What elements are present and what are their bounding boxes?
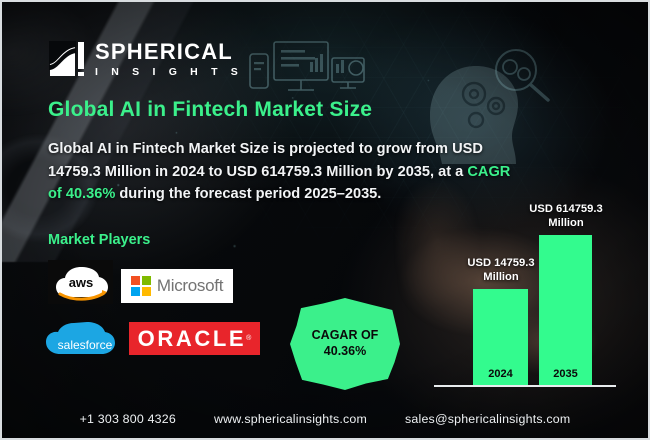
svg-text:salesforce: salesforce bbox=[58, 338, 113, 352]
page-title: Global AI in Fintech Market Size bbox=[48, 98, 372, 122]
svg-text:aws: aws bbox=[68, 275, 93, 290]
summary-line-3: during the forecast period 2025–2035. bbox=[115, 186, 381, 202]
oracle-logo[interactable]: ORACLE® bbox=[129, 322, 260, 355]
footer-bar: +1 303 800 4326 www.sphericalinsights.co… bbox=[2, 406, 648, 432]
market-size-bar-chart: USD 14759.3 Million USD 614759.3 Million… bbox=[430, 190, 620, 396]
salesforce-logo[interactable]: salesforce bbox=[44, 315, 126, 365]
aws-logo[interactable]: aws bbox=[48, 260, 113, 304]
logo-subtitle: I N S I G H T S bbox=[95, 67, 243, 78]
chart-axis-baseline bbox=[434, 385, 616, 387]
bar-value-label-2024: USD 14759.3 Million bbox=[461, 256, 541, 284]
bar-category-2024: 2024 bbox=[488, 368, 512, 385]
microsoft-squares-icon bbox=[131, 276, 151, 296]
footer-website[interactable]: www.sphericalinsights.com bbox=[214, 412, 367, 426]
cagr-badge-line-2: 40.36% bbox=[324, 344, 366, 360]
microsoft-wordmark: Microsoft bbox=[157, 276, 223, 296]
cagr-badge-line-1: CAGAR OF bbox=[312, 328, 379, 344]
logo-name: SPHERICAL bbox=[95, 41, 243, 63]
microsoft-logo[interactable]: Microsoft bbox=[121, 269, 233, 303]
brand-logo[interactable]: SPHERICAL I N S I G H T S bbox=[48, 40, 243, 78]
footer-phone[interactable]: +1 303 800 4326 bbox=[80, 412, 176, 426]
bar-2024: 2024 bbox=[473, 289, 528, 385]
bar-value-label-2035: USD 614759.3 Million bbox=[528, 202, 604, 230]
spherical-logo-mark-icon bbox=[48, 40, 86, 78]
market-players-heading: Market Players bbox=[48, 232, 150, 248]
footer-email[interactable]: sales@sphericalinsights.com bbox=[405, 412, 570, 426]
infographic-canvas: SPHERICAL I N S I G H T S Global AI in F… bbox=[0, 0, 650, 440]
oracle-registered-mark: ® bbox=[246, 335, 251, 342]
bar-category-2035: 2035 bbox=[553, 368, 577, 385]
summary-line-1: Global AI in Fintech Market Size is proj… bbox=[48, 141, 448, 157]
bar-2035: 2035 bbox=[539, 235, 592, 385]
cagr-badge: CAGAR OF 40.36% bbox=[290, 298, 400, 390]
oracle-wordmark: ORACLE bbox=[138, 326, 247, 352]
